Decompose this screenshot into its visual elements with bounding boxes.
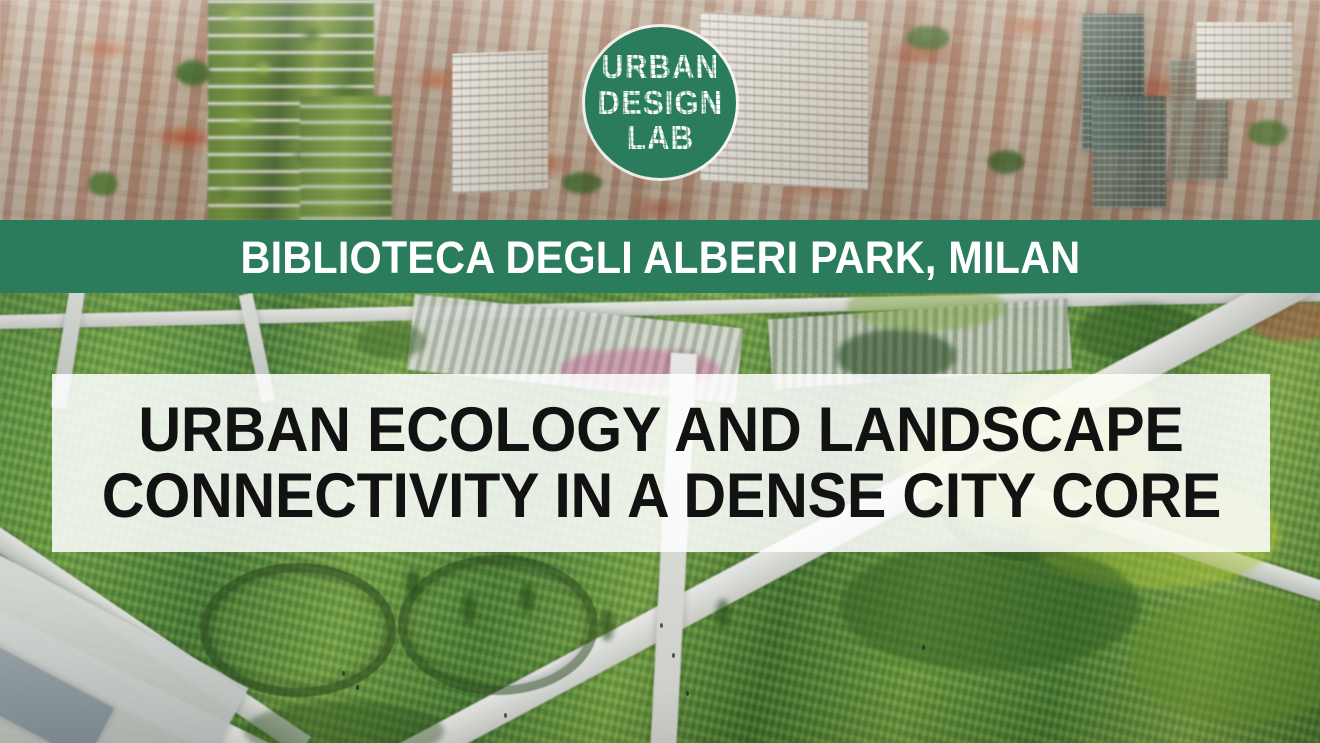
logo-line-design: DESIGN [598, 86, 724, 120]
logo-line-urban: URBAN [602, 50, 720, 84]
banner-title: BIBLIOTECA DEGLI ALBERI PARK, MILAN [240, 235, 1080, 280]
logo-line-lab: LAB [627, 121, 694, 155]
poster-root: BIBLIOTECA DEGLI ALBERI PARK, MILAN [0, 0, 1320, 743]
article-title-line-1: URBAN ECOLOGY AND LANDSCAPE [138, 397, 1183, 463]
article-title-panel: URBAN ECOLOGY AND LANDSCAPE CONNECTIVITY… [52, 374, 1270, 552]
article-title-line-2: CONNECTIVITY IN A DENSE CITY CORE [101, 463, 1220, 529]
urban-design-lab-logo[interactable]: URBAN DESIGN LAB [585, 27, 736, 178]
project-location-banner: BIBLIOTECA DEGLI ALBERI PARK, MILAN [0, 220, 1320, 294]
